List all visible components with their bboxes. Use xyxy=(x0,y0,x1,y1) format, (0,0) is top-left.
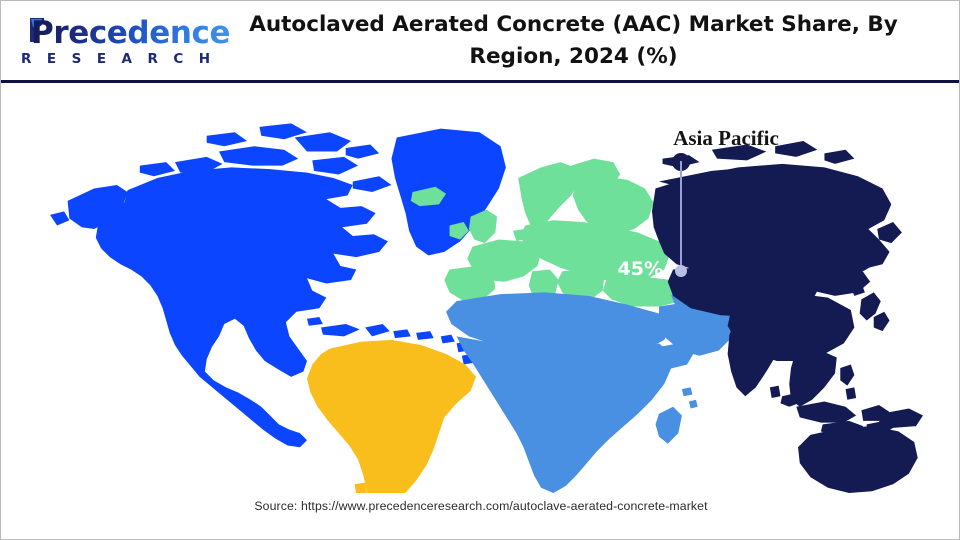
world-map xyxy=(43,97,923,493)
page-title: Autoclaved Aerated Concrete (AAC) Market… xyxy=(201,9,946,73)
source-link[interactable]: Source: https://www.precedenceresearch.c… xyxy=(1,499,960,513)
brand-logo: Precedence R E S E A R C H xyxy=(19,15,179,69)
logo-subtitle: R E S E A R C H xyxy=(21,51,216,67)
map-stage: Asia Pacific 45% xyxy=(1,83,960,493)
header: Precedence R E S E A R C H Autoclaved Ae… xyxy=(1,1,959,82)
footer: Source: https://www.precedenceresearch.c… xyxy=(1,493,960,539)
infographic-root: Precedence R E S E A R C H Autoclaved Ae… xyxy=(0,0,960,540)
region-latin-america[interactable] xyxy=(307,340,476,493)
